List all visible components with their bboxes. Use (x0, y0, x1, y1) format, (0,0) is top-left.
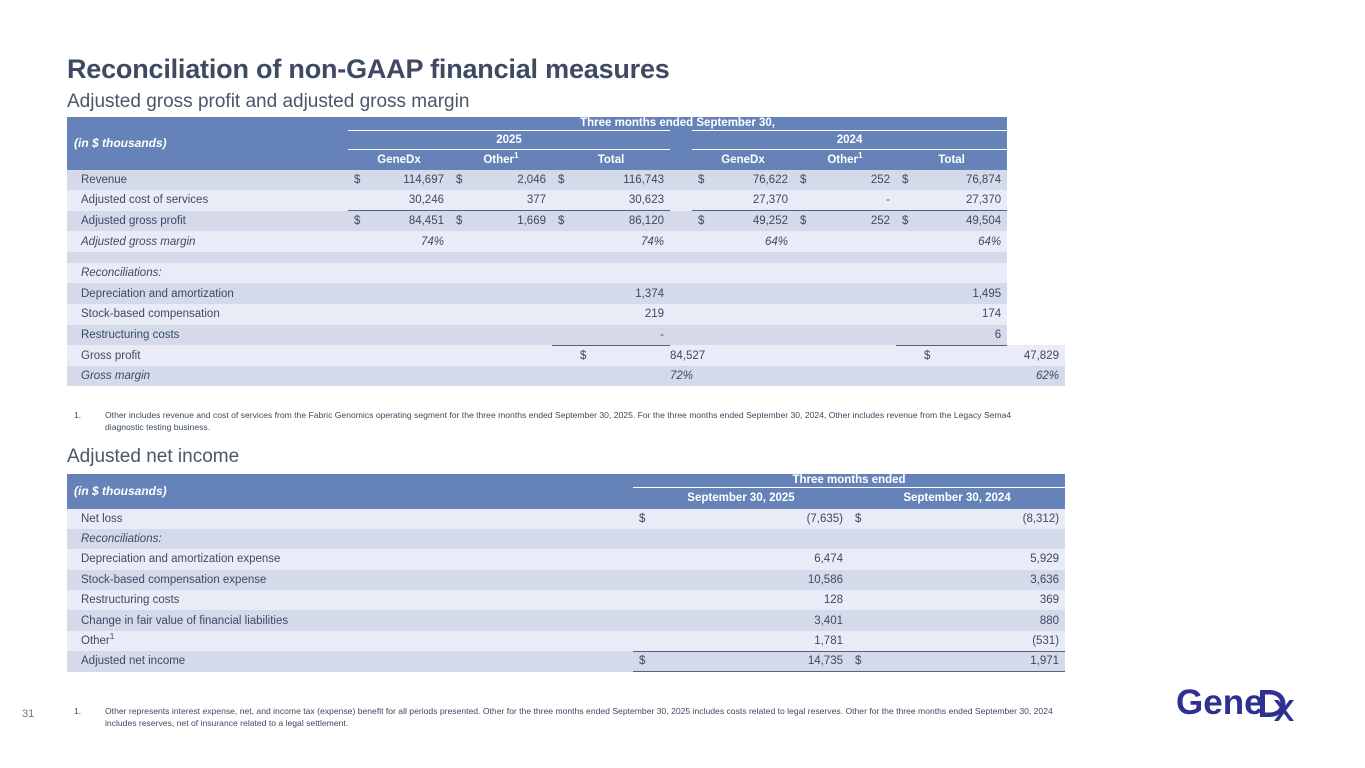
table2-reconciliations-label: Reconciliations: (67, 529, 633, 549)
table2-row-other-label-text: Other (81, 635, 110, 647)
table-row: Adjusted cost of services 30,246 377 30,… (67, 190, 1065, 211)
table2-restructuring-2025: 128 (663, 590, 849, 610)
table1-grossmargin-total-2025-currency (574, 366, 670, 387)
table-row: Net loss $ (7,635) $ (8,312) (67, 509, 1065, 529)
table2-other-2024-currency (849, 631, 879, 651)
table1-year-2025: 2025 (348, 131, 670, 150)
table2-netloss-2024-currency: $ (849, 509, 879, 529)
table2-col-2025: September 30, 2025 (633, 488, 849, 509)
table1-cost-total-2024-currency (896, 190, 918, 211)
table1-agm-other-2025-currency (450, 231, 472, 252)
table-row: Revenue $ 114,697 $ 2,046 $ 116,743 $ 76… (67, 170, 1065, 191)
table-row: Stock-based compensation expense 10,586 … (67, 570, 1065, 590)
table1-stockcomp-blank-2025 (348, 304, 574, 325)
table1-revenue-other-2025-currency: $ (450, 170, 472, 191)
table1-header-units-row: (in $ thousands) Three months ended Sept… (67, 117, 1065, 131)
table1-row-cost-label: Adjusted cost of services (67, 190, 348, 211)
table1-cost-genedx-2025: 30,246 (370, 190, 450, 211)
genedx-logo: Gene (1176, 683, 1336, 725)
table1-agp-total-2024-currency: $ (896, 211, 918, 232)
table1-revenue-total-2025-currency: $ (552, 170, 574, 191)
table1-cost-total-2025-currency (552, 190, 574, 211)
table2-depreciation-2024: 5,929 (879, 549, 1065, 569)
table1-col-other-2024: Other1 (794, 150, 896, 170)
table1-col-other-2024-sup: 1 (858, 151, 863, 160)
table1-agm-total-2024: 64% (918, 231, 1007, 252)
table1-agp-other-2024-currency: $ (794, 211, 816, 232)
table1-agm-total-2024-currency (896, 231, 918, 252)
table1-col-other-2024-label: Other (827, 154, 858, 166)
table1-grossmargin-total-2024: 62% (1007, 366, 1065, 387)
table1-stockcomp-total-2024: 174 (918, 304, 1007, 325)
table1-agm-other-2024-currency (794, 231, 816, 252)
table-row: Depreciation and amortization expense 6,… (67, 549, 1065, 569)
table1-cost-genedx-2024: 27,370 (714, 190, 794, 211)
table2-fairvalue-2024-currency (849, 610, 879, 630)
table-row: Restructuring costs - 6 (67, 325, 1065, 346)
table1-row-agm-label: Adjusted gross margin (67, 231, 348, 252)
table1-grossprofit-blank-2024 (692, 345, 918, 366)
table1-col-total-2024: Total (896, 150, 1007, 170)
table1-col-gap (670, 150, 692, 170)
table2-other-2025: 1,781 (663, 631, 849, 651)
table2-restructuring-2024: 369 (879, 590, 1065, 610)
table1-cost-other-2024-currency (794, 190, 816, 211)
page-title: Reconciliation of non-GAAP financial mea… (67, 54, 670, 85)
table1-revenue-total-2024: 76,874 (918, 170, 1007, 191)
table1-agm-genedx-2024: 64% (714, 231, 794, 252)
table2-ani-2024-currency: $ (849, 651, 879, 671)
table1-agp-genedx-2024-currency: $ (692, 211, 714, 232)
table2-stockcomp-2025-currency (633, 570, 663, 590)
table2-row-depreciation-label: Depreciation and amortization expense (67, 549, 633, 569)
table1-year-gap (670, 131, 692, 150)
table1-row-agp-label: Adjusted gross profit (67, 211, 348, 232)
table2-units-label: (in $ thousands) (67, 474, 633, 509)
table1-col-total-2025: Total (552, 150, 670, 170)
table2-stockcomp-2024-currency (849, 570, 879, 590)
table1-cost-total-2024: 27,370 (918, 190, 1007, 211)
table2-row-stockcomp-label: Stock-based compensation expense (67, 570, 633, 590)
table1-col-genedx-2025: GeneDx (348, 150, 450, 170)
table1-agp-total-2025-currency: $ (552, 211, 574, 232)
table1-restructuring-rule-2024 (896, 325, 918, 346)
table2-ani-2025: 14,735 (663, 651, 849, 671)
table2-row-restructuring-label: Restructuring costs (67, 590, 633, 610)
table1-revenue-genedx-2024: 76,622 (714, 170, 794, 191)
table1-spacer-cell (67, 252, 1007, 263)
section-subtitle-net-income: Adjusted net income (67, 446, 239, 468)
table1-revenue-genedx-2024-currency: $ (692, 170, 714, 191)
table2-header-units-row: (in $ thousands) Three months ended (67, 474, 1065, 488)
table2-fairvalue-2025-currency (633, 610, 663, 630)
table1-reconciliations-blank (348, 263, 1007, 284)
table1-agp-genedx-2024: 49,252 (714, 211, 794, 232)
table1-row-stockcomp-label: Stock-based compensation (67, 304, 348, 325)
table1-grossprofit-total-2025: 84,527 (670, 345, 692, 366)
table1-cost-gap (670, 190, 692, 211)
table1-restructuring-blank-2025a (348, 325, 552, 346)
table-row: Gross profit $ 84,527 $ 47,829 (67, 345, 1065, 366)
table2-stockcomp-2025: 10,586 (663, 570, 849, 590)
table1-restructuring-total-2024: 6 (918, 325, 1007, 346)
table1-cost-genedx-2024-currency (692, 190, 714, 211)
table1-units-label: (in $ thousands) (67, 117, 348, 170)
table1-cost-other-2025-currency (450, 190, 472, 211)
table1-year-2024: 2024 (692, 131, 1007, 150)
table1-grossprofit-total-2024-currency: $ (918, 345, 1007, 366)
table2-depreciation-2025-currency (633, 549, 663, 569)
table1-agm-other-2024 (816, 231, 896, 252)
table1-revenue-other-2024: 252 (816, 170, 896, 191)
table2-netloss-2025: (7,635) (663, 509, 849, 529)
table1-agp-gap (670, 211, 692, 232)
table1-revenue-genedx-2025: 114,697 (370, 170, 450, 191)
table-row: Adjusted gross profit $ 84,451 $ 1,669 $… (67, 211, 1065, 232)
table1-revenue-total-2024-currency: $ (896, 170, 918, 191)
table1-stockcomp-total-2025: 219 (574, 304, 670, 325)
table2-stockcomp-2024: 3,636 (879, 570, 1065, 590)
table1-spacer-row (67, 252, 1065, 263)
table1-row-revenue-label: Revenue (67, 170, 348, 191)
table1-col-other-2025: Other1 (450, 150, 552, 170)
table1-restructuring-total-2025: - (574, 325, 670, 346)
table1-revenue-other-2025: 2,046 (472, 170, 552, 191)
section-subtitle-gross-profit: Adjusted gross profit and adjusted gross… (67, 91, 469, 113)
table2-row-other-sup: 1 (110, 632, 115, 641)
table1-revenue-total-2025: 116,743 (574, 170, 670, 191)
table1-col-other-2025-label: Other (483, 154, 514, 166)
table1-agp-genedx-2025-currency: $ (348, 211, 370, 232)
table-row: Stock-based compensation 219 174 (67, 304, 1065, 325)
table2-fairvalue-2024: 880 (879, 610, 1065, 630)
table1-depreciation-total-2024: 1,495 (918, 283, 1007, 304)
page-number: 31 (22, 708, 34, 720)
table1-agp-other-2025: 1,669 (472, 211, 552, 232)
table1-agp-genedx-2025: 84,451 (370, 211, 450, 232)
table1-grossmargin-blank-2024 (692, 366, 918, 387)
table1-agm-other-2025 (472, 231, 552, 252)
table2-row-netloss-label: Net loss (67, 509, 633, 529)
table-row: Other1 1,781 (531) (67, 631, 1065, 651)
table1-cost-other-2025: 377 (472, 190, 552, 211)
table2-other-2025-currency (633, 631, 663, 651)
table1-revenue-other-2024-currency: $ (794, 170, 816, 191)
table1-agm-genedx-2025: 74% (370, 231, 450, 252)
table2-netloss-2024: (8,312) (879, 509, 1065, 529)
table2-reconciliations-blank (633, 529, 1065, 549)
table-row: Depreciation and amortization 1,374 1,49… (67, 283, 1065, 304)
table1-cost-total-2025: 30,623 (574, 190, 670, 211)
table2-footnote-number: 1. (74, 706, 96, 718)
table1-agp-total-2025: 86,120 (574, 211, 670, 232)
genedx-logo-mark: Gene (1176, 683, 1336, 725)
table2-row-ani-label: Adjusted net income (67, 651, 633, 671)
table-row: Restructuring costs 128 369 (67, 590, 1065, 610)
table2-netloss-2025-currency: $ (633, 509, 663, 529)
table1-depreciation-blank-2025 (348, 283, 574, 304)
table1-col-genedx-2024: GeneDx (692, 150, 794, 170)
table1-revenue-genedx-2025-currency: $ (348, 170, 370, 191)
table1-grossmargin-total-2024-currency (918, 366, 1007, 387)
adjusted-net-income-table: (in $ thousands) Three months ended Sept… (67, 474, 1065, 672)
table1-agm-genedx-2024-currency (692, 231, 714, 252)
table1-row-grossmargin-label: Gross margin (67, 366, 348, 387)
table2-restructuring-2024-currency (849, 590, 879, 610)
table2-col-2024: September 30, 2024 (849, 488, 1065, 509)
table2-ani-2024: 1,971 (879, 651, 1065, 671)
table1-agm-gap (670, 231, 692, 252)
table1-depreciation-blank-2024 (670, 283, 918, 304)
table1-footnote-number: 1. (74, 410, 96, 422)
table2-fairvalue-2025: 3,401 (663, 610, 849, 630)
table2-other-2024: (531) (879, 631, 1065, 651)
table1-agm-total-2025-currency (552, 231, 574, 252)
table2-depreciation-2025: 6,474 (663, 549, 849, 569)
table1-col-other-2025-sup: 1 (514, 151, 519, 160)
table1-span-header: Three months ended September 30, (348, 117, 1007, 131)
table1-grossmargin-blank-2025 (348, 366, 574, 387)
table2-ani-2025-currency: $ (633, 651, 663, 671)
table-row: Reconciliations: (67, 263, 1065, 284)
table1-agm-total-2025: 74% (574, 231, 670, 252)
table2-row-fairvalue-label: Change in fair value of financial liabil… (67, 610, 633, 630)
adjusted-gross-profit-table: (in $ thousands) Three months ended Sept… (67, 117, 1065, 386)
table1-stockcomp-blank-2024 (670, 304, 918, 325)
table1-grossprofit-blank-2025 (348, 345, 574, 366)
table1-cost-genedx-2025-currency (348, 190, 370, 211)
genedx-logo-gene: Gene (1176, 683, 1264, 722)
table2-footnote: 1. Other represents interest expense, ne… (74, 706, 1064, 729)
table2-span-header: Three months ended (633, 474, 1065, 488)
table2-row-other-label: Other1 (67, 631, 633, 651)
table1-reconciliations-label: Reconciliations: (67, 263, 348, 284)
table1-row-restructuring-label: Restructuring costs (67, 325, 348, 346)
table1-agp-other-2024: 252 (816, 211, 896, 232)
table-row: Reconciliations: (67, 529, 1065, 549)
table1-revenue-gap (670, 170, 692, 191)
table2-depreciation-2024-currency (849, 549, 879, 569)
table1-agp-total-2024: 49,504 (918, 211, 1007, 232)
table-row: Change in fair value of financial liabil… (67, 610, 1065, 630)
table1-grossprofit-total-2025-currency: $ (574, 345, 670, 366)
table2-restructuring-2025-currency (633, 590, 663, 610)
table2-footnote-text: Other represents interest expense, net, … (74, 706, 1064, 729)
table-row: Adjusted net income $ 14,735 $ 1,971 (67, 651, 1065, 671)
table1-restructuring-blank-2024a (670, 325, 896, 346)
table1-restructuring-rule-2025 (552, 325, 574, 346)
table1-grossmargin-total-2025: 72% (670, 366, 692, 387)
table1-row-grossprofit-label: Gross profit (67, 345, 348, 366)
table1-footnote-text: Other includes revenue and cost of servi… (74, 410, 1049, 433)
table1-agp-other-2025-currency: $ (450, 211, 472, 232)
table1-cost-other-2024: - (816, 190, 896, 211)
table-row: Gross margin 72% 62% (67, 366, 1065, 387)
table1-footnote: 1. Other includes revenue and cost of se… (74, 410, 1049, 433)
table1-row-depreciation-label: Depreciation and amortization (67, 283, 348, 304)
table-row: Adjusted gross margin 74% 74% 64% 64% (67, 231, 1065, 252)
table1-grossprofit-total-2024: 47,829 (1007, 345, 1065, 366)
table1-depreciation-total-2025: 1,374 (574, 283, 670, 304)
table1-agm-genedx-2025-currency (348, 231, 370, 252)
